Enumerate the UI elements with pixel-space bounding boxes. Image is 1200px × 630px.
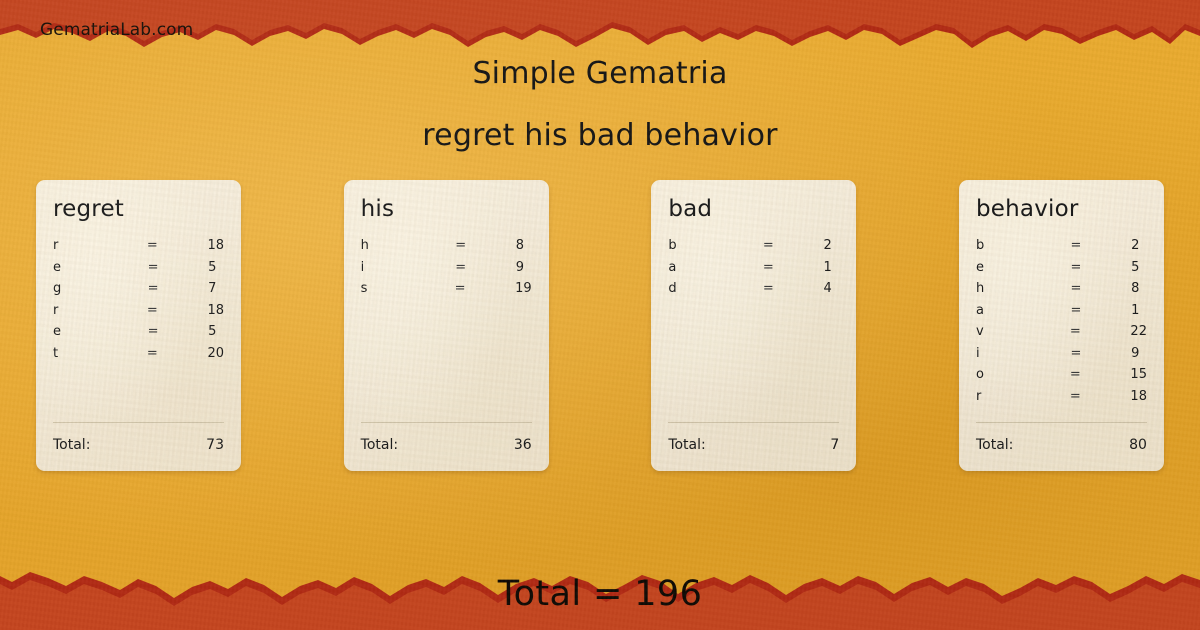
total-label: Total: (361, 437, 398, 453)
letter-label: s (361, 281, 368, 296)
grand-total: Total = 196 (0, 574, 1200, 614)
card-divider (668, 422, 839, 423)
value-number: 5 (1131, 260, 1139, 275)
letter-value: = 18 (147, 238, 224, 253)
equals-sign: = (763, 281, 774, 296)
total-label: Total: (53, 437, 90, 453)
word-card: hish= 8i= 9s= 19Total:36 (344, 180, 549, 471)
value-number: 9 (1131, 346, 1139, 361)
letter-label: r (53, 238, 58, 253)
equals-sign: = (763, 238, 774, 253)
value-spacer (158, 260, 208, 275)
letter-value-row: e= 5 (53, 260, 224, 282)
value-spacer (1081, 260, 1131, 275)
card-total-row: Total:36 (361, 437, 532, 471)
letter-value: = 22 (1070, 324, 1147, 339)
cipher-title: Simple Gematria (0, 56, 1200, 91)
equals-sign: = (147, 303, 158, 318)
equals-sign: = (1071, 238, 1082, 253)
card-divider (53, 422, 224, 423)
total-value: 36 (514, 437, 532, 453)
value-number: 18 (207, 303, 224, 318)
letter-value-row: i= 9 (976, 346, 1147, 368)
value-spacer (158, 238, 208, 253)
letter-value: = 8 (1071, 281, 1140, 296)
letter-value: = 18 (1070, 389, 1147, 404)
word-card-title: bad (668, 198, 839, 221)
value-spacer (1081, 281, 1131, 296)
letter-label: a (668, 260, 676, 275)
letter-value-row: e= 5 (976, 260, 1147, 282)
letter-label: d (668, 281, 676, 296)
total-label: Total: (668, 437, 705, 453)
card-divider (976, 422, 1147, 423)
value-number: 19 (515, 281, 532, 296)
letter-label: b (976, 238, 984, 253)
header-block: Simple Gematria regret his bad behavior (0, 56, 1200, 153)
letter-label: i (976, 346, 980, 361)
letter-value: = 5 (148, 324, 217, 339)
letter-value: = 9 (455, 260, 524, 275)
letter-label: e (53, 260, 61, 275)
card-divider (361, 422, 532, 423)
value-number: 1 (1131, 303, 1139, 318)
letter-label: b (668, 238, 676, 253)
equals-sign: = (148, 324, 159, 339)
letter-value-list: b= 2e= 5h= 8a= 1v= 22i= 9o= 15r= 18 (976, 238, 1147, 422)
letter-value-row: g= 7 (53, 281, 224, 303)
letter-value: = 15 (1070, 367, 1147, 382)
value-spacer (465, 281, 515, 296)
letter-value-row: a= 1 (668, 260, 839, 282)
value-spacer (1081, 367, 1131, 382)
value-spacer (774, 260, 824, 275)
value-number: 5 (208, 324, 216, 339)
total-value: 73 (206, 437, 224, 453)
letter-value: = 2 (1071, 238, 1140, 253)
word-card: behaviorb= 2e= 5h= 8a= 1v= 22i= 9o= 15r=… (959, 180, 1164, 471)
letter-value: = 9 (1071, 346, 1140, 361)
total-value: 7 (830, 437, 839, 453)
total-value: 80 (1129, 437, 1147, 453)
equals-sign: = (1071, 346, 1082, 361)
letter-value-list: b= 2a= 1d= 4 (668, 238, 839, 422)
letter-value: = 7 (148, 281, 217, 296)
value-spacer (1081, 238, 1131, 253)
equals-sign: = (455, 238, 466, 253)
value-spacer (158, 281, 208, 296)
letter-label: e (53, 324, 61, 339)
letter-label: a (976, 303, 984, 318)
value-spacer (774, 238, 824, 253)
value-spacer (1081, 303, 1131, 318)
value-number: 18 (1130, 389, 1147, 404)
value-number: 15 (1130, 367, 1147, 382)
word-card-title: his (361, 198, 532, 221)
value-spacer (1081, 389, 1131, 404)
value-spacer (158, 324, 208, 339)
letter-value: = 1 (1071, 303, 1140, 318)
letter-value-row: i= 9 (361, 260, 532, 282)
value-spacer (466, 260, 516, 275)
value-spacer (158, 303, 208, 318)
letter-label: h (361, 238, 369, 253)
value-number: 20 (207, 346, 224, 361)
value-spacer (1081, 324, 1131, 339)
letter-value: = 4 (763, 281, 832, 296)
equals-sign: = (147, 238, 158, 253)
equals-sign: = (1070, 367, 1081, 382)
value-number: 2 (823, 238, 831, 253)
letter-value-list: r= 18e= 5g= 7r= 18e= 5t= 20 (53, 238, 224, 422)
value-number: 18 (207, 238, 224, 253)
letter-value: = 5 (1071, 260, 1140, 275)
letter-value: = 1 (763, 260, 832, 275)
equals-sign: = (148, 260, 159, 275)
equals-sign: = (1070, 324, 1081, 339)
equals-sign: = (1071, 303, 1082, 318)
site-logo[interactable]: GematriaLab.com (40, 20, 193, 40)
equals-sign: = (148, 281, 159, 296)
letter-value-row: t= 20 (53, 346, 224, 368)
equals-sign: = (147, 346, 158, 361)
word-card: regretr= 18e= 5g= 7r= 18e= 5t= 20Total:7… (36, 180, 241, 471)
letter-value-row: v= 22 (976, 324, 1147, 346)
letter-value-row: o= 15 (976, 367, 1147, 389)
word-card-title: regret (53, 198, 224, 221)
letter-value: = 2 (763, 238, 832, 253)
value-spacer (158, 346, 208, 361)
letter-label: v (976, 324, 984, 339)
phrase-title: regret his bad behavior (0, 118, 1200, 153)
letter-value: = 18 (147, 303, 224, 318)
word-card-title: behavior (976, 198, 1147, 221)
letter-value-row: a= 1 (976, 303, 1147, 325)
card-total-row: Total:7 (668, 437, 839, 471)
value-number: 4 (823, 281, 831, 296)
letter-label: r (53, 303, 58, 318)
value-number: 5 (208, 260, 216, 275)
letter-label: r (976, 389, 981, 404)
total-label: Total: (976, 437, 1013, 453)
letter-value-list: h= 8i= 9s= 19 (361, 238, 532, 422)
word-card: badb= 2a= 1d= 4Total:7 (651, 180, 856, 471)
letter-label: i (361, 260, 365, 275)
equals-sign: = (1070, 389, 1081, 404)
letter-value-row: r= 18 (976, 389, 1147, 411)
letter-value-row: e= 5 (53, 324, 224, 346)
letter-value: = 19 (455, 281, 532, 296)
equals-sign: = (455, 281, 466, 296)
letter-label: g (53, 281, 61, 296)
value-number: 7 (208, 281, 216, 296)
letter-value-row: b= 2 (668, 238, 839, 260)
value-number: 8 (1131, 281, 1139, 296)
letter-label: t (53, 346, 58, 361)
value-number: 9 (516, 260, 524, 275)
value-spacer (1081, 346, 1131, 361)
equals-sign: = (763, 260, 774, 275)
letter-value: = 20 (147, 346, 224, 361)
letter-value-row: d= 4 (668, 281, 839, 303)
letter-value-row: r= 18 (53, 303, 224, 325)
letter-label: h (976, 281, 984, 296)
equals-sign: = (1071, 260, 1082, 275)
value-number: 1 (823, 260, 831, 275)
letter-value-row: h= 8 (361, 238, 532, 260)
value-number: 2 (1131, 238, 1139, 253)
letter-label: o (976, 367, 984, 382)
letter-value: = 5 (148, 260, 217, 275)
letter-value: = 8 (455, 238, 524, 253)
letter-value-row: s= 19 (361, 281, 532, 303)
value-number: 8 (516, 238, 524, 253)
letter-value-row: r= 18 (53, 238, 224, 260)
value-spacer (774, 281, 824, 296)
letter-label: e (976, 260, 984, 275)
equals-sign: = (1071, 281, 1082, 296)
value-number: 22 (1130, 324, 1147, 339)
word-card-row: regretr= 18e= 5g= 7r= 18e= 5t= 20Total:7… (36, 180, 1164, 471)
card-total-row: Total:73 (53, 437, 224, 471)
value-spacer (466, 238, 516, 253)
letter-value-row: b= 2 (976, 238, 1147, 260)
equals-sign: = (455, 260, 466, 275)
letter-value-row: h= 8 (976, 281, 1147, 303)
card-total-row: Total:80 (976, 437, 1147, 471)
